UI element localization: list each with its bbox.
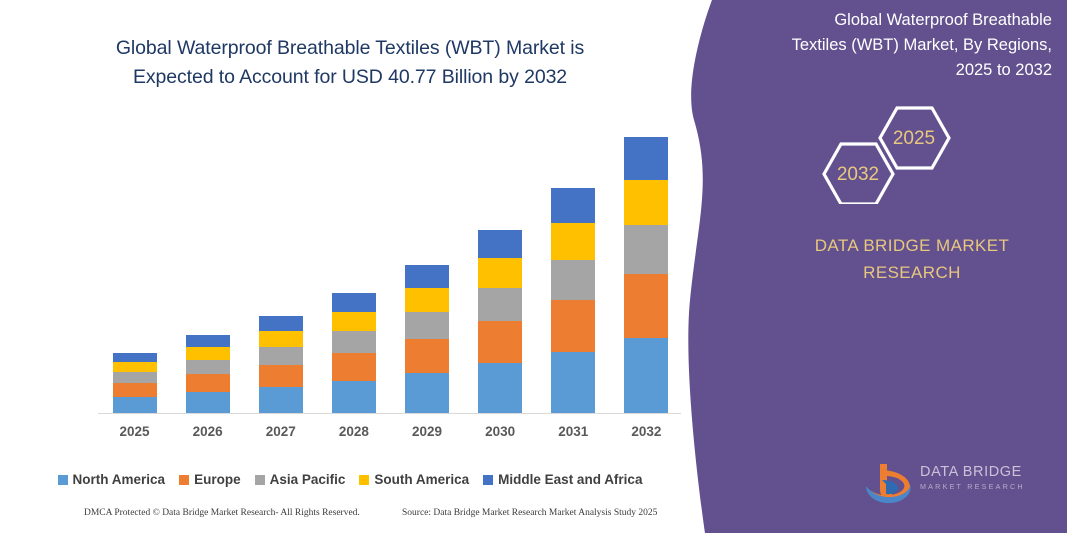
panel-title-line-3: 2025 to 2032 — [770, 58, 1052, 83]
legend-item[interactable]: Europe — [179, 472, 241, 487]
brand-name: DATA BRIDGE MARKET RESEARCH — [772, 232, 1052, 286]
infographic-root: Global Waterproof Breathable Textiles (W… — [0, 0, 1067, 533]
bar-segment[interactable] — [186, 374, 230, 392]
bar-segment[interactable] — [259, 365, 303, 388]
bar-segment[interactable] — [113, 362, 157, 372]
x-axis-tick-label: 2028 — [324, 424, 384, 439]
logo-sub-text: MARKET RESEARCH — [920, 481, 1052, 493]
source-note: Source: Data Bridge Market Research Mark… — [402, 508, 657, 518]
branding-pane: Global Waterproof Breathable Textiles (W… — [660, 0, 1067, 533]
legend-item[interactable]: North America — [58, 472, 166, 487]
bar-segment[interactable] — [405, 373, 449, 414]
bar-segment[interactable] — [405, 265, 449, 288]
chart-title-line-2: Expected to Account for USD 40.77 Billio… — [60, 63, 640, 92]
legend-label: Middle East and Africa — [498, 472, 642, 487]
stacked-bar-plot — [98, 110, 683, 414]
bar-segment[interactable] — [113, 397, 157, 414]
bar-group[interactable] — [186, 335, 230, 414]
legend-item[interactable]: Middle East and Africa — [483, 472, 642, 487]
bar-segment[interactable] — [478, 288, 522, 321]
bar-segment[interactable] — [405, 339, 449, 373]
bar-group[interactable] — [405, 265, 449, 414]
brand-line-2: RESEARCH — [772, 259, 1052, 286]
bar-segment[interactable] — [551, 260, 595, 301]
x-axis-tick-label: 2026 — [178, 424, 238, 439]
logo-mark-icon — [860, 460, 918, 506]
legend-item[interactable]: Asia Pacific — [255, 472, 346, 487]
legend-swatch-icon — [179, 475, 189, 485]
dmca-notice: DMCA Protected © Data Bridge Market Rese… — [84, 508, 360, 518]
logo-wordmark: DATA BRIDGE MARKET RESEARCH — [920, 464, 1052, 493]
bar-segment[interactable] — [332, 353, 376, 381]
bar-segment[interactable] — [113, 372, 157, 383]
bar-segment[interactable] — [551, 223, 595, 260]
legend-item[interactable]: South America — [359, 472, 469, 487]
hexagon-2025-label: 2025 — [893, 128, 935, 149]
bar-segment[interactable] — [405, 312, 449, 339]
x-axis-tick-label: 2031 — [543, 424, 603, 439]
bar-segment[interactable] — [551, 352, 595, 414]
chart-legend: North AmericaEuropeAsia PacificSouth Ame… — [0, 472, 700, 487]
x-axis-tick-label: 2029 — [397, 424, 457, 439]
bar-segment[interactable] — [478, 258, 522, 288]
legend-label: South America — [374, 472, 469, 487]
panel-title-line-2: Textiles (WBT) Market, By Regions, — [770, 33, 1052, 58]
legend-label: Asia Pacific — [270, 472, 346, 487]
hexagon-badges: 2032 2025 — [810, 92, 1020, 202]
bar-segment[interactable] — [259, 331, 303, 347]
bar-segment[interactable] — [405, 288, 449, 312]
chart-title: Global Waterproof Breathable Textiles (W… — [60, 34, 640, 92]
bar-segment[interactable] — [332, 381, 376, 414]
x-axis-tick-label: 2025 — [105, 424, 165, 439]
bar-segment[interactable] — [551, 300, 595, 352]
bar-segment[interactable] — [478, 230, 522, 258]
bar-group[interactable] — [478, 230, 522, 414]
bar-group[interactable] — [332, 293, 376, 414]
x-axis-tick-label: 2030 — [470, 424, 530, 439]
legend-swatch-icon — [483, 475, 493, 485]
legend-label: North America — [73, 472, 166, 487]
bar-segment[interactable] — [551, 188, 595, 223]
x-axis-tick-label: 2027 — [251, 424, 311, 439]
bar-segment[interactable] — [478, 363, 522, 414]
bar-group[interactable] — [259, 316, 303, 414]
bar-segment[interactable] — [259, 347, 303, 365]
x-axis-line — [98, 413, 681, 414]
hexagon-2032-label: 2032 — [837, 164, 879, 185]
bar-segment[interactable] — [186, 392, 230, 414]
bar-group[interactable] — [551, 188, 595, 414]
bar-segment[interactable] — [186, 360, 230, 374]
logo-main-text: DATA BRIDGE — [920, 464, 1052, 481]
legend-swatch-icon — [58, 475, 68, 485]
panel-title-line-1: Global Waterproof Breathable — [770, 8, 1052, 33]
company-logo: DATA BRIDGE MARKET RESEARCH — [860, 460, 1050, 508]
chart-title-line-1: Global Waterproof Breathable Textiles (W… — [60, 34, 640, 63]
bar-segment[interactable] — [113, 383, 157, 397]
x-axis-labels: 20252026202720282029203020312032 — [98, 424, 683, 444]
bar-segment[interactable] — [259, 387, 303, 414]
bar-segment[interactable] — [186, 335, 230, 347]
bar-group[interactable] — [113, 353, 157, 414]
chart-footer: DMCA Protected © Data Bridge Market Rese… — [0, 508, 700, 528]
legend-swatch-icon — [255, 475, 265, 485]
branding-content: Global Waterproof Breathable Textiles (W… — [660, 0, 1067, 533]
bar-segment[interactable] — [332, 312, 376, 332]
bar-segment[interactable] — [113, 353, 157, 362]
bar-segment[interactable] — [332, 331, 376, 353]
bar-segment[interactable] — [478, 321, 522, 363]
brand-line-1: DATA BRIDGE MARKET — [772, 232, 1052, 259]
legend-label: Europe — [194, 472, 241, 487]
chart-pane: Global Waterproof Breathable Textiles (W… — [0, 0, 700, 533]
legend-swatch-icon — [359, 475, 369, 485]
bar-segment[interactable] — [259, 316, 303, 331]
bar-segment[interactable] — [332, 293, 376, 311]
bar-segment[interactable] — [186, 347, 230, 360]
panel-title: Global Waterproof Breathable Textiles (W… — [770, 8, 1052, 83]
